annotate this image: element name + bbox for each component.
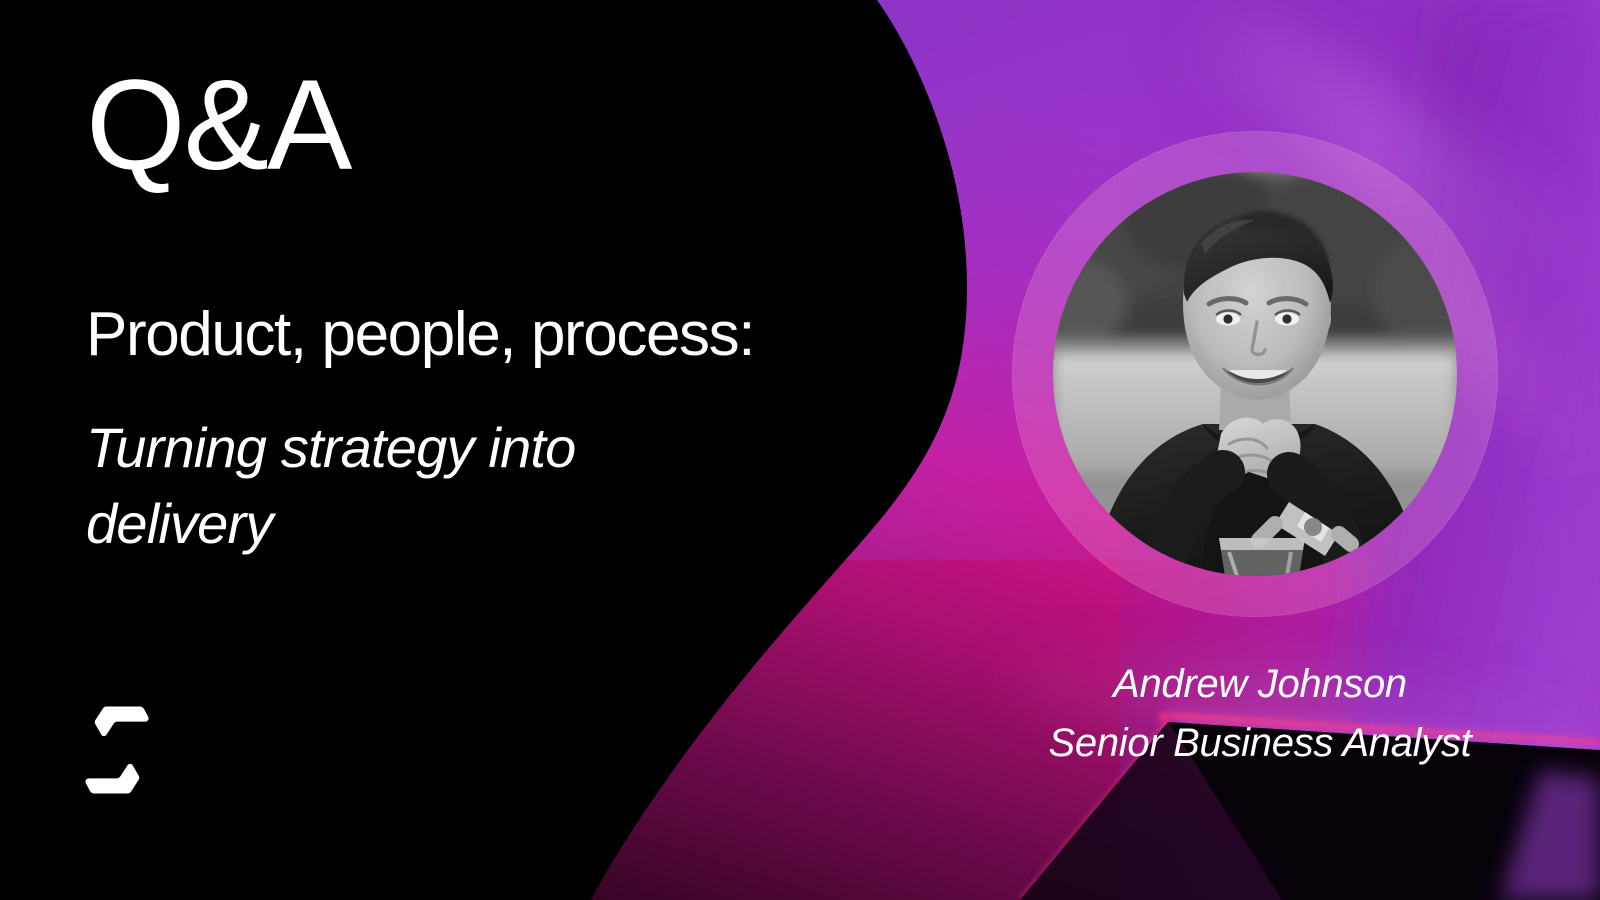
subheadline-line-2: delivery [86, 492, 273, 555]
stylised-s-icon [85, 707, 148, 794]
qa-slide: Q&A Product, people, process: Turning st… [0, 0, 1600, 900]
portrait-photo [1053, 172, 1457, 576]
headline: Product, people, process: [86, 301, 754, 369]
speaker-caption: Andrew Johnson Senior Business Analyst [1000, 655, 1520, 773]
brand-logo [84, 704, 150, 796]
speaker-role: Senior Business Analyst [1000, 714, 1520, 773]
subheadline-line-1: Turning strategy into [86, 416, 576, 479]
speaker-name: Andrew Johnson [1000, 655, 1520, 714]
subheadline: Turning strategy into delivery [86, 410, 646, 562]
page-title: Q&A [86, 62, 350, 190]
speaker-portrait [1012, 131, 1498, 617]
